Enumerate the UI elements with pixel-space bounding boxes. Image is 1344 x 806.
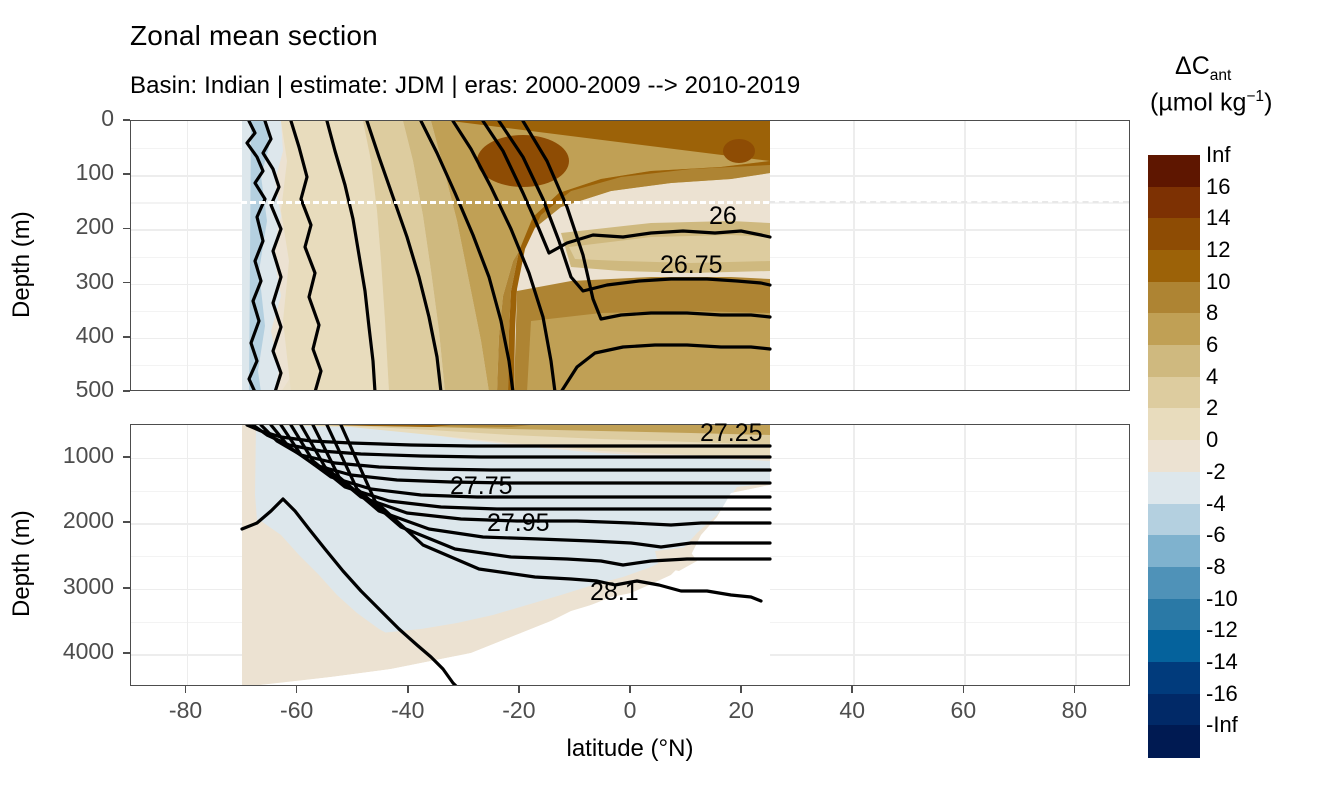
x-tick-label: -40	[363, 697, 453, 724]
colorbar-bin	[1148, 440, 1200, 472]
colorbar-tick-label: 12	[1206, 237, 1230, 263]
plot-panel-lower	[130, 424, 1130, 686]
colorbar-bin	[1148, 567, 1200, 599]
contour-label-26-75: 26.75	[660, 251, 723, 280]
colorbar-tick-label: 6	[1206, 332, 1218, 358]
page-title: Zonal mean section	[130, 20, 378, 52]
y-tick-mark-upper	[123, 173, 130, 175]
y-tick-mark-lower	[123, 587, 130, 589]
legend-title-line1: ΔCant	[1175, 52, 1231, 85]
contour-label-28-1: 28.1	[590, 578, 639, 607]
x-tick-mark	[851, 686, 853, 693]
x-tick-mark	[629, 686, 631, 693]
y-axis-title-lower: Depth (m)	[8, 510, 36, 617]
colorbar-tick-label: -8	[1206, 554, 1226, 580]
colorbar-bin	[1148, 218, 1200, 250]
y-axis-title-upper: Depth (m)	[8, 211, 36, 318]
y-tick-mark-upper	[123, 390, 130, 392]
plot-panel-upper	[130, 120, 1130, 391]
colorbar-tick-label: -4	[1206, 491, 1226, 517]
colorbar-tick-label: -12	[1206, 617, 1238, 643]
colorbar-bin	[1148, 504, 1200, 536]
legend-units-open: (µmol kg	[1150, 88, 1246, 116]
colorbar-tick-label: 16	[1206, 174, 1230, 200]
colorbar-bin	[1148, 345, 1200, 377]
upper-panel-isopycnal-lines	[131, 121, 1130, 391]
x-tick-mark	[518, 686, 520, 693]
x-tick-label: 60	[918, 697, 1008, 724]
x-tick-label: -80	[141, 697, 231, 724]
lower-panel-isopycnal-lines	[131, 425, 1130, 686]
colorbar-tick-label: 8	[1206, 300, 1218, 326]
y-tick-label-upper: 100	[18, 159, 114, 186]
colorbar-bin	[1148, 725, 1200, 757]
mixed-layer-depth-guide	[769, 201, 1129, 203]
colorbar-bin	[1148, 408, 1200, 440]
colorbar-tick-label: -2	[1206, 459, 1226, 485]
x-tick-label: 0	[585, 697, 675, 724]
colorbar-tick-label: 10	[1206, 269, 1230, 295]
colorbar-tick-label: 4	[1206, 364, 1218, 390]
contour-label-27-75: 27.75	[450, 472, 513, 501]
contour-label-26: 26	[709, 202, 737, 231]
colorbar-tick-label: 0	[1206, 427, 1218, 453]
legend-title-delta-c: ΔC	[1175, 52, 1210, 80]
y-tick-mark-upper	[123, 336, 130, 338]
y-tick-label-lower: 1000	[18, 442, 114, 469]
x-tick-mark	[296, 686, 298, 693]
colorbar-tick-label: -16	[1206, 681, 1238, 707]
mixed-layer-depth-line	[241, 201, 769, 204]
y-tick-mark-upper	[123, 282, 130, 284]
x-tick-label: 20	[696, 697, 786, 724]
colorbar-bin	[1148, 377, 1200, 409]
x-tick-label: 40	[807, 697, 897, 724]
y-tick-mark-lower	[123, 456, 130, 458]
colorbar-bin	[1148, 694, 1200, 726]
x-tick-mark	[740, 686, 742, 693]
x-tick-mark	[963, 686, 965, 693]
colorbar-bin	[1148, 313, 1200, 345]
x-tick-mark	[1074, 686, 1076, 693]
x-tick-label: -20	[474, 697, 564, 724]
colorbar-bin	[1148, 250, 1200, 282]
colorbar-bin	[1148, 662, 1200, 694]
y-tick-label-upper: 400	[18, 322, 114, 349]
colorbar-tick-label: -14	[1206, 649, 1238, 675]
y-tick-mark-upper	[123, 228, 130, 230]
colorbar-bin	[1148, 472, 1200, 504]
contour-label-27-25: 27.25	[700, 419, 763, 448]
colorbar-bin	[1148, 535, 1200, 567]
colorbar-bin	[1148, 630, 1200, 662]
colorbar-tick-label: -10	[1206, 586, 1238, 612]
x-tick-mark	[407, 686, 409, 693]
colorbar-tick-label: 2	[1206, 395, 1218, 421]
colorbar-bin	[1148, 599, 1200, 631]
y-tick-label-lower: 4000	[18, 638, 114, 665]
x-axis-title: latitude (°N)	[130, 735, 1130, 763]
colorbar	[1148, 155, 1200, 757]
legend-units-close: )	[1264, 88, 1272, 116]
y-tick-label-upper: 0	[18, 105, 114, 132]
colorbar-tick-label: 14	[1206, 205, 1230, 231]
x-tick-label: -60	[252, 697, 342, 724]
y-tick-label-upper: 500	[18, 376, 114, 403]
legend-units-exponent: −1	[1246, 88, 1264, 105]
y-tick-mark-lower	[123, 521, 130, 523]
colorbar-tick-label: -Inf	[1206, 712, 1238, 738]
colorbar-bin	[1148, 155, 1200, 187]
page-subtitle: Basin: Indian | estimate: JDM | eras: 20…	[130, 72, 800, 100]
x-tick-label: 80	[1029, 697, 1119, 724]
legend-title-line2: (µmol kg−1)	[1150, 88, 1272, 117]
colorbar-bin	[1148, 282, 1200, 314]
x-tick-mark	[185, 686, 187, 693]
legend-title-subscript: ant	[1210, 67, 1232, 84]
y-tick-mark-upper	[123, 119, 130, 121]
contour-label-27-95: 27.95	[487, 509, 550, 538]
y-tick-mark-lower	[123, 652, 130, 654]
colorbar-tick-label: -6	[1206, 522, 1226, 548]
colorbar-tick-label: Inf	[1206, 142, 1230, 168]
figure-root: Zonal mean section Basin: Indian | estim…	[0, 0, 1344, 806]
colorbar-bin	[1148, 187, 1200, 219]
